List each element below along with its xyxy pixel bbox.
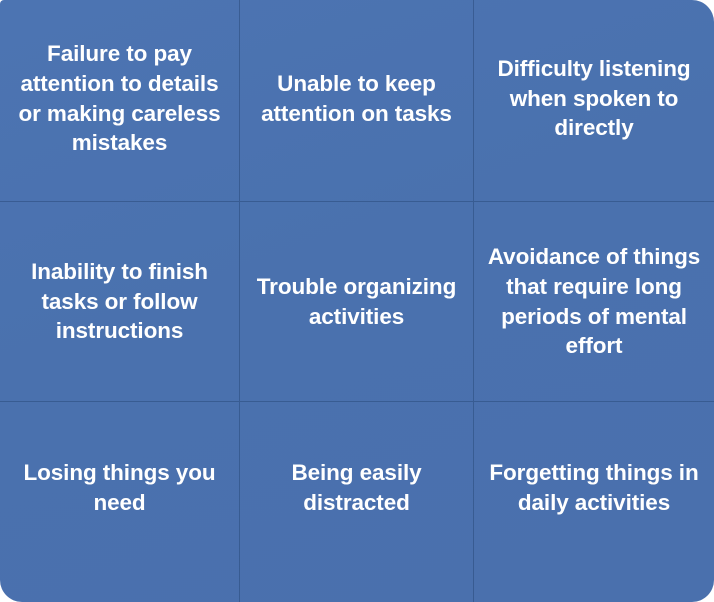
cell-label: Avoidance of things that require long pe…	[484, 242, 704, 362]
grid-cell-r2c3: Avoidance of things that require long pe…	[474, 201, 714, 402]
cell-label: Being easily distracted	[250, 458, 463, 518]
cell-label: Inability to finish tasks or follow inst…	[10, 257, 229, 347]
grid-cell-r3c1: Losing things you need	[0, 402, 239, 602]
symptom-grid: Failure to pay attention to details or m…	[0, 0, 714, 602]
cell-label: Unable to keep attention on tasks	[250, 69, 463, 129]
grid-cell-r1c3: Difficulty listening when spoken to dire…	[474, 0, 714, 201]
grid-cell-r2c2: Trouble organizing activities	[239, 201, 474, 402]
grid-cell-r1c1: Failure to pay attention to details or m…	[0, 0, 239, 201]
cell-label: Failure to pay attention to details or m…	[10, 39, 229, 159]
grid-cell-r3c2: Being easily distracted	[239, 402, 474, 602]
cell-label: Losing things you need	[10, 458, 229, 518]
cell-label: Difficulty listening when spoken to dire…	[484, 54, 704, 144]
grid-cell-r3c3: Forgetting things in daily activities	[474, 402, 714, 602]
grid-cell-r1c2: Unable to keep attention on tasks	[239, 0, 474, 201]
symptom-grid-card: Failure to pay attention to details or m…	[0, 0, 714, 602]
cell-label: Trouble organizing activities	[250, 272, 463, 332]
cell-label: Forgetting things in daily activities	[484, 458, 704, 518]
grid-cell-r2c1: Inability to finish tasks or follow inst…	[0, 201, 239, 402]
